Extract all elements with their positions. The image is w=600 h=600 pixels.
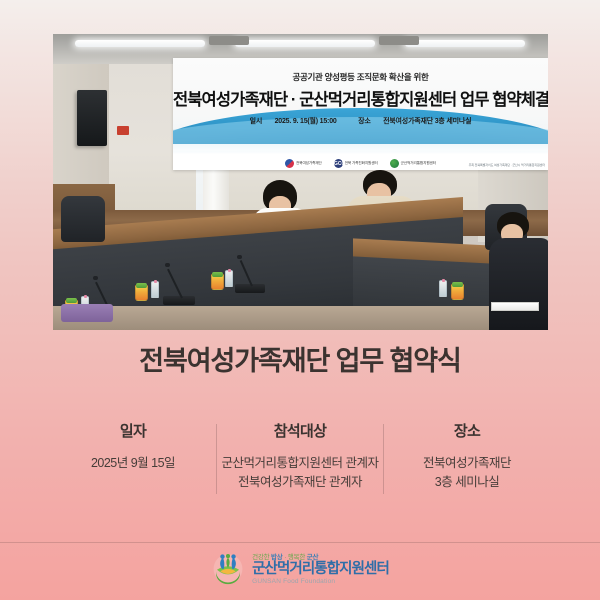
ceiling-light (405, 40, 525, 47)
jbwf-logo-icon (285, 159, 294, 168)
ceremony-photo: 공공기관 양성평등 조직문화 확산을 위한 전북여성가족재단 · 군산먹거리통합… (53, 34, 548, 330)
footer-text-block: 건강한 밥상 · 행복한 군산 군산먹거리통합지원센터 GUNSAN Food … (252, 551, 389, 585)
microphone-head (237, 255, 242, 259)
footer-divider (0, 542, 600, 543)
info-line: 3층 세미나실 (388, 473, 546, 492)
banner-datetime-label: 일시 (250, 118, 262, 125)
info-line: 전북여성가족재단 (388, 454, 546, 473)
tagline-part-2: 밥상 (271, 554, 283, 561)
page-title: 전북여성가족재단 업무 협약식 (0, 345, 600, 377)
water-bottle (225, 270, 233, 287)
banner-details: 일시 2025. 9. 15(월) 15:00 장소 전북여성가족재단 3층 세… (173, 116, 548, 126)
jgcc-logo-icon: JGCC (334, 159, 343, 168)
gunsan-food-logo-icon (390, 159, 399, 168)
info-heading-venue: 장소 (388, 420, 546, 441)
banner-subtitle: 공공기관 양성평등 조직문화 확산을 위한 (173, 71, 548, 83)
microphone-head (93, 276, 98, 280)
sponsor-name: 전북여성가족재단 (296, 161, 322, 166)
event-banner: 공공기관 양성평등 조직문화 확산을 위한 전북여성가족재단 · 군산먹거리통합… (173, 58, 548, 170)
sponsor-logo-jbwf: 전북여성가족재단 (285, 159, 322, 168)
sponsor-name: 군산먹거리통합지원센터 (401, 161, 436, 166)
banner-fine-print: 주최 전북특별자치도 여성가족재단 · 군산시 먹거리통합지원센터 (469, 163, 545, 167)
microphone-head (165, 263, 170, 267)
banner-datetime-value: 2025. 9. 15(월) 15:00 (275, 118, 337, 125)
photo-floor (53, 306, 548, 330)
person-seated-right (489, 212, 548, 330)
tagline-part-1: 건강한 (252, 554, 269, 561)
exit-sign (117, 126, 129, 135)
footer-tagline: 건강한 밥상 · 행복한 군산 (252, 551, 389, 561)
gunsan-food-foundation-logo-icon (211, 551, 245, 585)
sponsor-logo-gunsan-food: 군산먹거리통합지원센터 (390, 159, 436, 168)
sponsor-name: 전북 가족친화지원센터 (345, 161, 378, 166)
snack-cup (211, 274, 224, 290)
snack-cup (451, 284, 464, 300)
floor-bag (61, 304, 113, 322)
ceiling-vent (209, 36, 249, 45)
tagline-part-3: · 행복한 (284, 554, 305, 561)
tagline-part-4: 군산 (307, 554, 319, 561)
info-heading-date: 일자 (54, 420, 212, 441)
banner-place-value: 전북여성가족재단 3층 세미나실 (383, 118, 471, 125)
ceiling-light (235, 40, 375, 47)
event-info-columns: 일자 2025년 9월 15일 참석대상 군산먹거리통합지원센터 관계자 전북여… (50, 420, 550, 502)
info-body-date: 2025년 9월 15일 (54, 454, 212, 473)
water-bottle (439, 280, 447, 297)
info-column-date: 일자 2025년 9월 15일 (50, 420, 216, 473)
info-column-venue: 장소 전북여성가족재단 3층 세미나실 (384, 420, 550, 493)
info-body-venue: 전북여성가족재단 3층 세미나실 (388, 454, 546, 493)
sponsor-logo-jgcc: JGCC 전북 가족친화지원센터 (334, 159, 378, 168)
banner-place-label: 장소 (358, 118, 370, 125)
banner-title: 전북여성가족재단 · 군산먹거리통합지원센터 업무 협약체결 (173, 86, 548, 110)
wall-speaker (77, 90, 107, 146)
event-announcement-card: 공공기관 양성평등 조직문화 확산을 위한 전북여성가족재단 · 군산먹거리통합… (0, 0, 600, 600)
info-column-attendees: 참석대상 군산먹거리통합지원센터 관계자 전북여성가족재단 관계자 (217, 420, 383, 493)
water-bottle (151, 281, 159, 298)
info-line: 전북여성가족재단 관계자 (221, 473, 379, 492)
paper-on-table (491, 302, 539, 311)
footer-logo: 건강한 밥상 · 행복한 군산 군산먹거리통합지원센터 GUNSAN Food … (0, 551, 600, 585)
snack-cup (135, 285, 148, 301)
ceiling-light (75, 40, 205, 47)
footer-org-name: 군산먹거리통합지원센터 (252, 562, 389, 577)
info-body-attendees: 군산먹거리통합지원센터 관계자 전북여성가족재단 관계자 (221, 454, 379, 493)
microphone-base (163, 296, 195, 305)
dark-jacket (489, 238, 548, 330)
office-chair (61, 196, 105, 242)
ceiling-vent (379, 36, 419, 45)
info-heading-attendees: 참석대상 (221, 420, 379, 441)
info-line: 군산먹거리통합지원센터 관계자 (221, 454, 379, 473)
info-line: 2025년 9월 15일 (54, 454, 212, 473)
footer-org-subtitle: GUNSAN Food Foundation (252, 578, 389, 585)
